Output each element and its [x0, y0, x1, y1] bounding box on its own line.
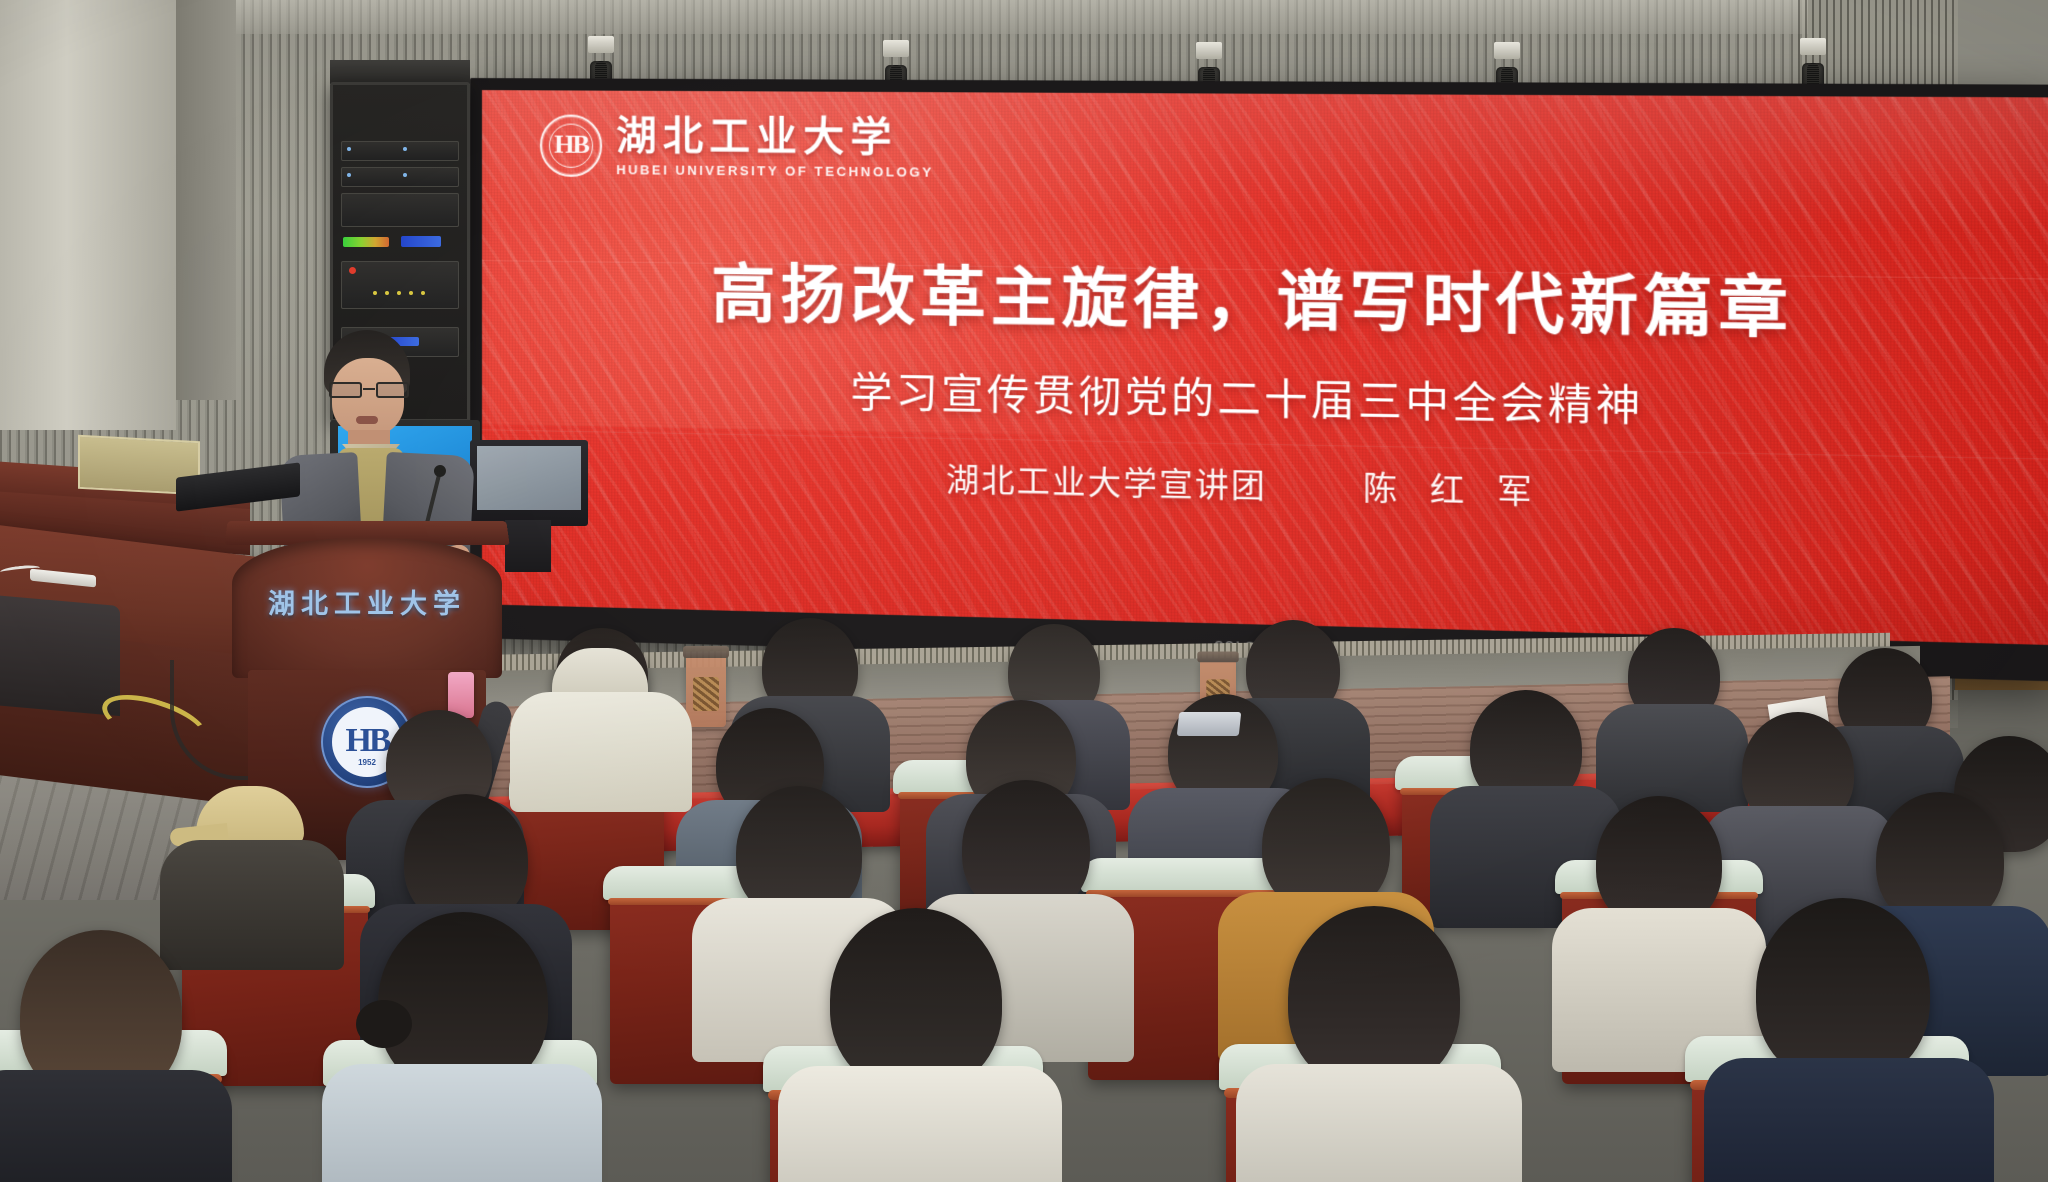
hair-bun: [356, 1000, 412, 1048]
tablet-device[interactable]: [1177, 712, 1242, 736]
audience-shoulders: [0, 1070, 232, 1182]
audience-shoulders: [1596, 704, 1748, 812]
beige-cap: [196, 786, 304, 848]
audience-head: [1756, 898, 1930, 1084]
audience-head: [830, 908, 1002, 1092]
tea-thermos: [686, 655, 726, 727]
audience-shoulders: [778, 1066, 1062, 1182]
lecture-hall-photo: HB 湖北工业大学 HUBEI UNIVERSITY OF TECHNOLOGY…: [0, 0, 2048, 1182]
audience: [0, 0, 2048, 1182]
audience-head: [1288, 906, 1460, 1090]
audience-shoulders: [1236, 1064, 1522, 1182]
audience-shoulders: [1704, 1058, 1994, 1182]
audience-shoulders: [160, 840, 344, 970]
audience-shoulders: [322, 1064, 602, 1182]
audience-shoulders: [510, 692, 692, 812]
